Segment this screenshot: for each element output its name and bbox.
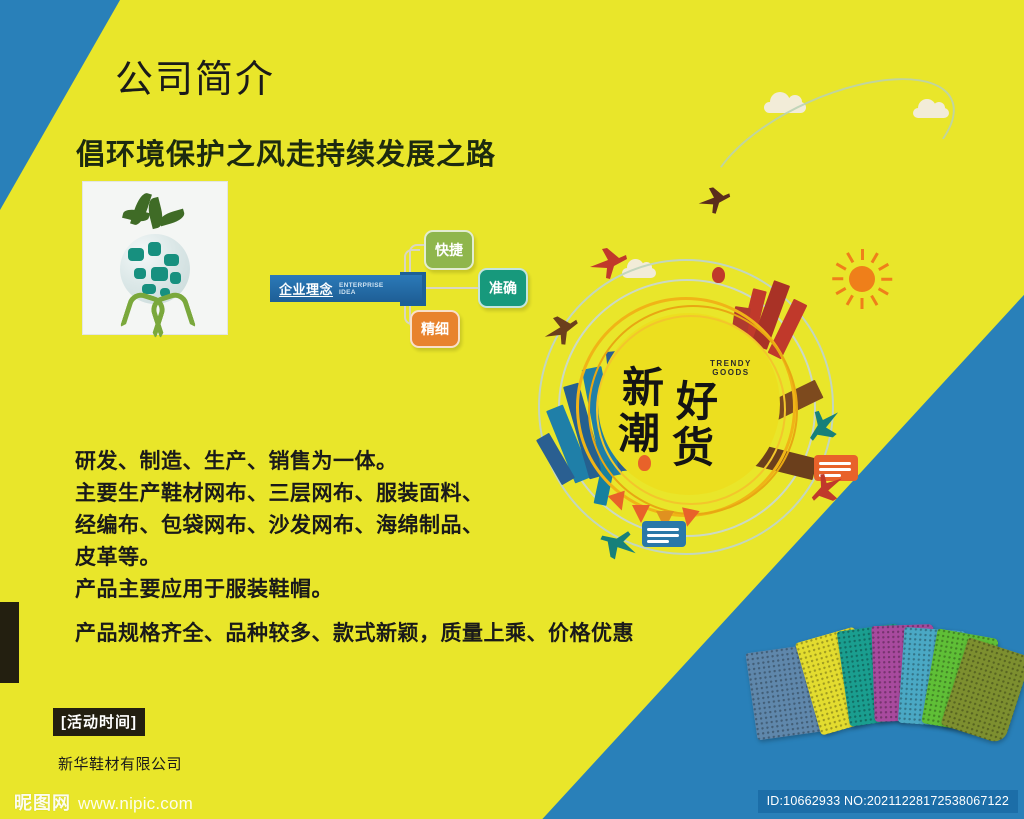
fabric-swatches	[745, 625, 1024, 745]
enterprise-idea-en-line2: IDEA	[339, 289, 356, 296]
emblem-char-xin: 新	[622, 367, 664, 409]
sun-icon	[849, 266, 875, 292]
trendy-goods-en-line2: GOODS	[712, 368, 749, 377]
company-name: 新华鞋材有限公司	[58, 753, 182, 774]
page-subtitle: 倡环境保护之风走持续发展之路	[76, 131, 496, 173]
id-badge: ID:10662933 NO:20211228172538067122	[758, 790, 1018, 813]
description-highlight: 产品规格齐全、品种较多、款式新颖，质量上乘、价格优惠	[75, 618, 505, 650]
hands-icon	[125, 294, 185, 328]
watermark-logo-text: 昵图网	[14, 789, 71, 815]
leaf-icon	[158, 209, 186, 227]
enterprise-idea-bar: 企业理念 ENTERPRISE IDEA	[270, 275, 422, 302]
trendy-goods-en: TRENDY GOODS	[710, 359, 752, 377]
diagram-node-accurate[interactable]: 准确	[478, 268, 528, 308]
trendy-goods-en-line1: TRENDY	[710, 359, 752, 368]
diagram-node-fast[interactable]: 快捷	[424, 230, 474, 270]
airplane-icon	[697, 186, 731, 216]
watermark: 昵图网 www.nipic.com	[14, 789, 193, 815]
description-line: 产品主要应用于服装鞋帽。	[75, 574, 505, 606]
description-line: 经编布、包袋网布、沙发网布、海绵制品、	[75, 510, 505, 542]
emblem-char-chao: 潮	[618, 413, 660, 455]
company-description: 研发、制造、生产、销售为一体。 主要生产鞋材网布、三层网布、服装面料、 经编布、…	[75, 446, 505, 650]
enterprise-idea-label-cn: 企业理念	[279, 279, 333, 298]
decor-black-tab	[0, 602, 19, 683]
trendy-goods-emblem: TRENDY GOODS 新 好 潮 货	[536, 255, 836, 555]
description-line: 皮革等。	[75, 542, 505, 574]
page-title: 公司简介	[115, 48, 275, 103]
emblem-char-hao: 好	[676, 381, 718, 423]
emblem-char-huo: 货	[672, 427, 714, 469]
eco-globe-photo	[83, 182, 227, 334]
description-line: 主要生产鞋材网布、三层网布、服装面料、	[75, 478, 505, 510]
airplane-icon	[588, 247, 628, 281]
airplane-icon	[540, 312, 583, 350]
hot-air-balloon-icon	[712, 267, 725, 283]
hot-air-balloon-icon	[638, 455, 651, 471]
enterprise-idea-diagram: 企业理念 ENTERPRISE IDEA 快捷 准确 精细	[270, 224, 530, 349]
poster-canvas: 公司简介 倡环境保护之风走持续发展之路 企业理念	[0, 0, 1024, 819]
description-line: 研发、制造、生产、销售为一体。	[75, 446, 505, 478]
enterprise-idea-en-line1: ENTERPRISE	[339, 282, 384, 289]
enterprise-idea-label-en: ENTERPRISE IDEA	[339, 282, 384, 296]
diagram-node-detailed[interactable]: 精细	[410, 310, 460, 348]
watermark-url: www.nipic.com	[78, 794, 193, 814]
speech-bubble-icon	[642, 521, 686, 547]
activity-time-tag: [活动时间]	[53, 708, 145, 736]
